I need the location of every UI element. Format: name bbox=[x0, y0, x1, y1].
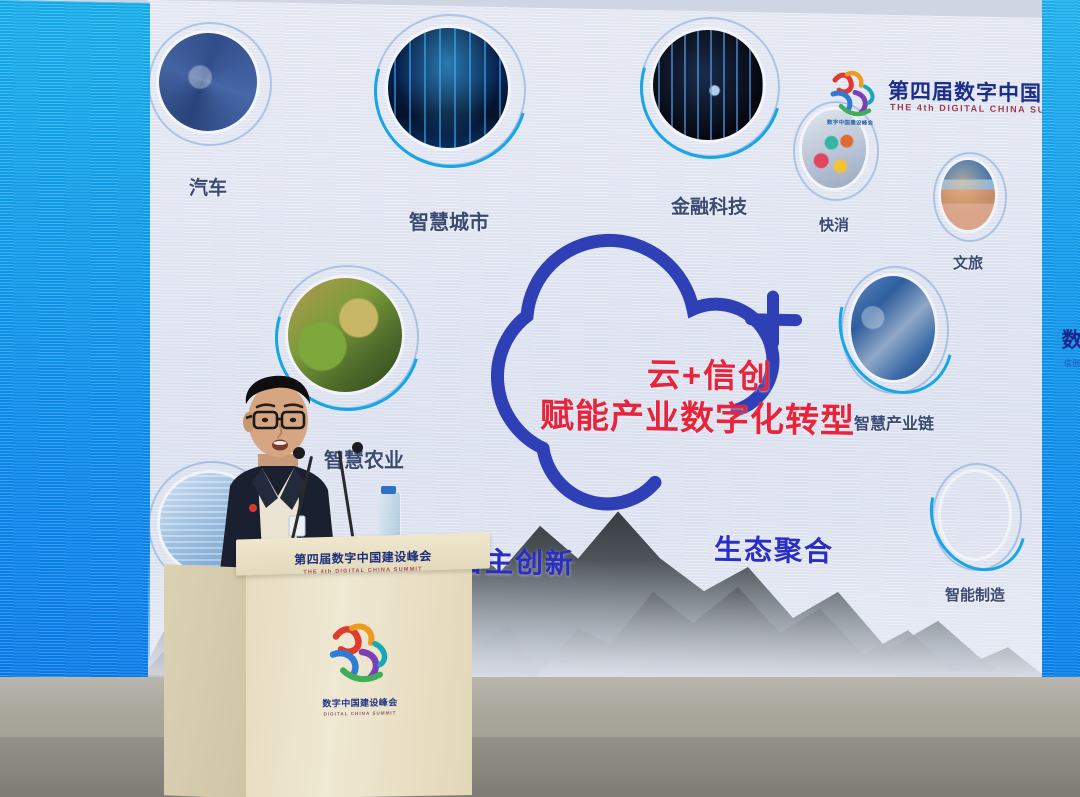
stage-floor-front bbox=[0, 737, 1080, 797]
node-smart-city: 智慧城市 bbox=[388, 28, 508, 148]
node-image-fintech bbox=[653, 30, 763, 140]
headline-line-2: 赋能产业数字化转型 bbox=[540, 395, 850, 443]
pillar-ecosystem: 生态聚合 bbox=[714, 528, 834, 570]
node-image-smart-manufacturing bbox=[941, 472, 1009, 558]
node-image-industry-chain bbox=[851, 276, 935, 380]
podium-logo: 数字中国建设峰会 DIGITAL CHINA SUMMIT bbox=[310, 619, 410, 731]
node-label-industry-chain: 智慧产业链 bbox=[836, 410, 952, 434]
microphone-head-left bbox=[293, 447, 305, 459]
node-label-culture-tourism: 文旅 bbox=[937, 252, 999, 273]
node-image-culture-tourism bbox=[941, 160, 995, 230]
node-image-automotive bbox=[159, 33, 257, 131]
node-label-smart-manufacturing: 智能制造 bbox=[927, 584, 1023, 605]
node-label-fintech: 金融科技 bbox=[648, 192, 770, 219]
podium-logo-cn: 数字中国建设峰会 bbox=[310, 695, 410, 710]
node-industry-chain: 智慧产业链 bbox=[851, 276, 935, 380]
node-culture-tourism: 文旅 bbox=[941, 160, 995, 230]
led-left-blue-panel bbox=[0, 0, 150, 745]
node-label-automotive: 汽车 bbox=[167, 173, 249, 200]
node-image-smart-city bbox=[388, 28, 508, 148]
node-smart-manufacturing: 智能制造 bbox=[941, 472, 1009, 558]
right-panel-subtext: 信创 bbox=[1050, 358, 1080, 369]
shu-calligraphy-icon bbox=[825, 68, 883, 125]
node-fintech: 金融科技 bbox=[653, 30, 763, 140]
node-label-fmcg: 快消 bbox=[800, 214, 868, 235]
slide-headline: 云+信创 赋能产业数字化转型 bbox=[570, 352, 850, 443]
podium-logo-en: DIGITAL CHINA SUMMIT bbox=[310, 710, 410, 717]
node-automotive: 汽车 bbox=[159, 33, 257, 131]
microphone-head-right bbox=[352, 442, 363, 453]
node-label-smart-city: 智慧城市 bbox=[385, 206, 513, 235]
water-bottle-cap bbox=[381, 486, 396, 494]
photo-scene: 云+信创 赋能产业数字化转型 汽车 智慧城市 金融科技 快消 文旅 bbox=[0, 0, 1080, 797]
podium-side-panel bbox=[164, 564, 250, 797]
right-panel-headline: 数 bbox=[1052, 330, 1080, 352]
logo-mark-subtitle: 数字中国建设峰会 bbox=[827, 118, 873, 127]
headline-line-1: 云+信创 bbox=[570, 352, 850, 399]
summit-logo: 数字中国建设峰会 第四届数字中国建设峰会 THE 4th DIGITAL CHI… bbox=[825, 68, 1065, 142]
